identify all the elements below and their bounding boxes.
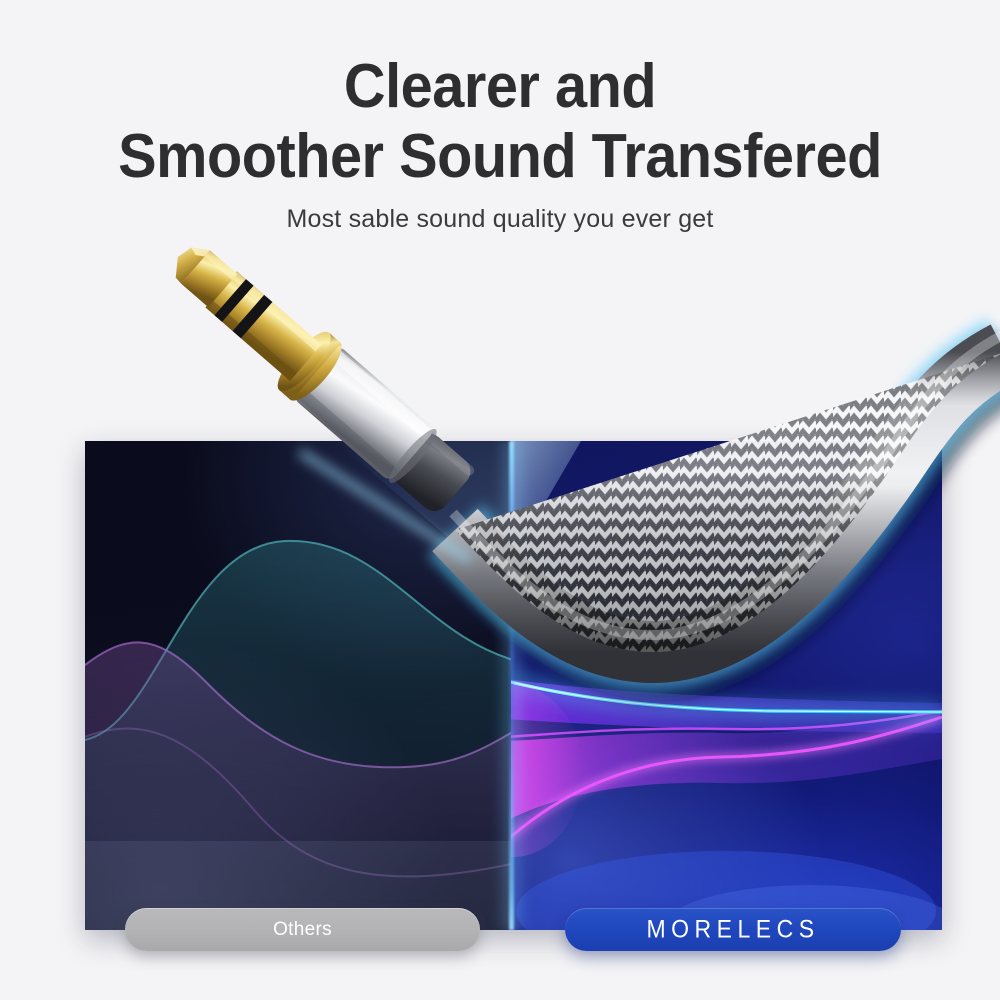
- comparison-panels: [85, 441, 942, 930]
- others-panel: [85, 441, 511, 930]
- connector-collar: [270, 325, 349, 408]
- page-title: Clearer and Smoother Sound Transfered: [35, 52, 965, 192]
- insulator-ring-1: [233, 295, 273, 338]
- others-waveform-graphic: [85, 441, 511, 930]
- panel-divider: [509, 441, 514, 930]
- morelecs-label-pill[interactable]: MORELECS: [565, 908, 901, 951]
- insulator-ring-2: [215, 279, 254, 322]
- page-subtitle: Most sable sound quality you ever get: [0, 205, 1000, 234]
- morelecs-waveform-graphic: [511, 441, 942, 930]
- others-label-text: Others: [273, 919, 332, 941]
- morelecs-panel: [511, 441, 942, 930]
- connector-gold-shaft: [165, 236, 322, 381]
- others-label-pill[interactable]: Others: [125, 908, 480, 951]
- marketing-banner: Clearer and Smoother Sound Transfered Mo…: [0, 0, 1000, 1000]
- morelecs-wordmark: MORELECS: [646, 915, 819, 944]
